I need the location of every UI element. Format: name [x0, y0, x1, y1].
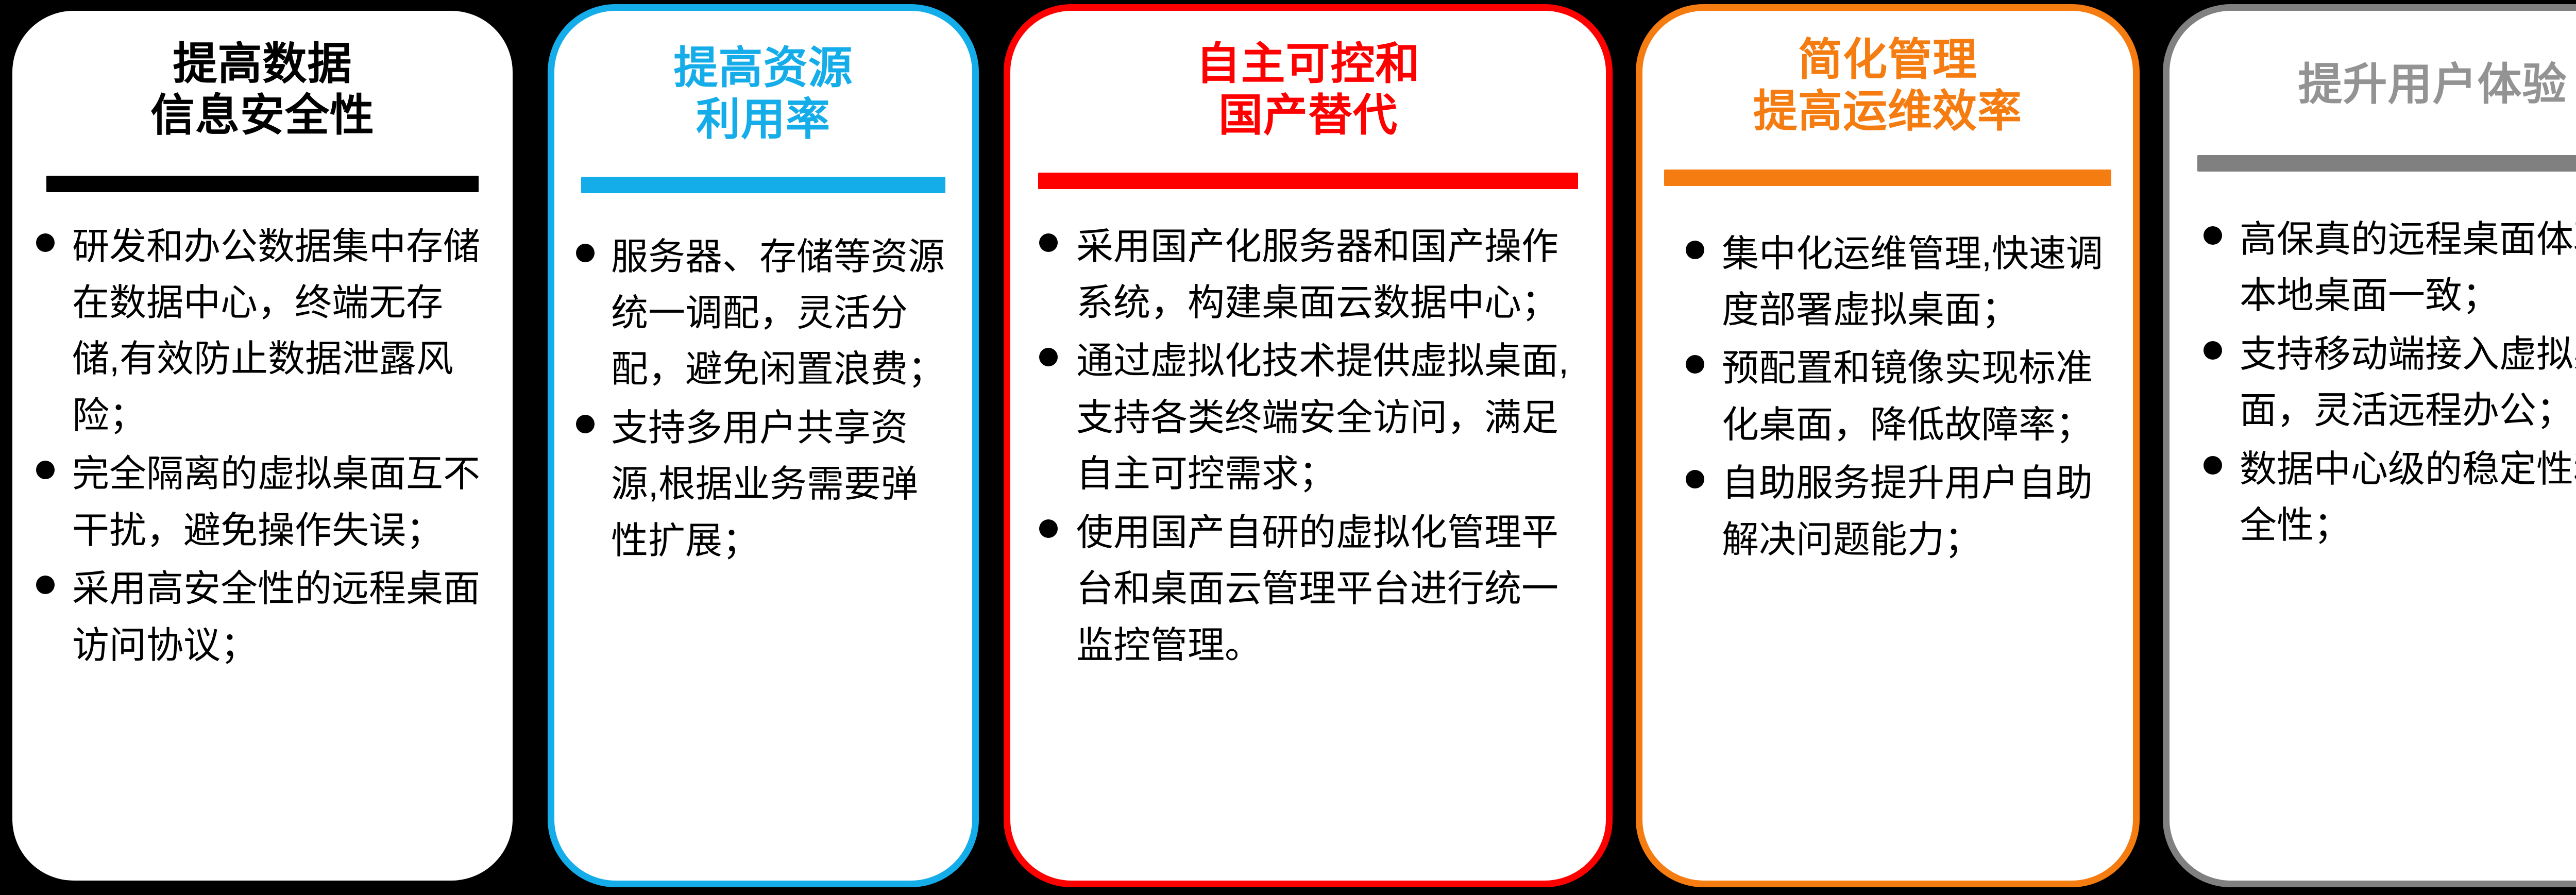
value-card-2[interactable]: 提高资源 利用率服务器、存储等资源统一调配，灵活分配，避免闲置浪费；支持多用户共… [548, 4, 979, 887]
list-item: 采用高安全性的远程桌面访问协议； [36, 561, 486, 674]
list-item: 使用国产自研的虚拟化管理平台和桌面云管理平台进行统一监控管理。 [1039, 505, 1583, 674]
bullet-text: 预配置和镜像实现标准化桌面，降低故障率； [1722, 341, 2110, 453]
title-divider-bar [581, 177, 945, 193]
list-item: 自助服务提升用户自助解决问题能力； [1686, 455, 2110, 568]
bullet-list: 集中化运维管理,快速调度部署虚拟桌面；预配置和镜像实现标准化桌面，降低故障率；自… [1686, 226, 2110, 569]
bullet-text: 数据中心级的稳定性和安全性； [2240, 442, 2576, 554]
card-body: 提升用户体验高保真的远程桌面体验,与本地桌面一致；支持移动端接入虚拟桌面，灵活远… [2170, 11, 2576, 881]
bullet-dot-icon [576, 415, 595, 433]
bullet-list: 服务器、存储等资源统一调配，灵活分配，避免闲置浪费；支持多用户共享资源,根据业务… [576, 229, 947, 570]
list-item: 高保真的远程桌面体验,与本地桌面一致； [2204, 212, 2576, 325]
bullet-dot-icon [2204, 456, 2222, 475]
value-card-4[interactable]: 简化管理 提高运维效率集中化运维管理,快速调度部署虚拟桌面；预配置和镜像实现标准… [1636, 4, 2140, 887]
title-divider-bar [2197, 155, 2576, 172]
value-card-3[interactable]: 自主可控和 国产替代采用国产化服务器和国产操作系统，构建桌面云数据中心；通过虚拟… [1004, 4, 1613, 887]
list-item: 采用国产化服务器和国产操作系统，构建桌面云数据中心； [1039, 219, 1583, 332]
list-item: 支持移动端接入虚拟桌面，灵活远程办公； [2204, 327, 2576, 440]
bullet-dot-icon [36, 576, 55, 594]
list-item: 预配置和镜像实现标准化桌面，降低故障率； [1686, 341, 2110, 453]
list-item: 研发和办公数据集中存储在数据中心，终端无存储,有效防止数据泄露风险； [36, 219, 486, 445]
card-board: 提高数据 信息安全性研发和办公数据集中存储在数据中心，终端无存储,有效防止数据泄… [0, 0, 2576, 895]
bullet-text: 集中化运维管理,快速调度部署虚拟桌面； [1722, 226, 2110, 339]
card-title: 提高数据 信息安全性 [12, 11, 513, 142]
value-card-1[interactable]: 提高数据 信息安全性研发和办公数据集中存储在数据中心，终端无存储,有效防止数据泄… [6, 4, 519, 887]
bullet-dot-icon [1686, 355, 1704, 374]
card-body: 提高资源 利用率服务器、存储等资源统一调配，灵活分配，避免闲置浪费；支持多用户共… [554, 11, 972, 881]
bullet-text: 通过虚拟化技术提供虚拟桌面,支持各类终端安全访问，满足自主可控需求； [1076, 333, 1583, 502]
card-body: 自主可控和 国产替代采用国产化服务器和国产操作系统，构建桌面云数据中心；通过虚拟… [1010, 11, 1606, 881]
title-divider-bar [46, 176, 479, 192]
card-title: 提升用户体验 [2170, 11, 2576, 111]
list-item: 集中化运维管理,快速调度部署虚拟桌面； [1686, 226, 2110, 339]
value-card-5[interactable]: 提升用户体验高保真的远程桌面体验,与本地桌面一致；支持移动端接入虚拟桌面，灵活远… [2163, 4, 2576, 887]
card-title: 简化管理 提高运维效率 [1642, 11, 2133, 138]
bullet-text: 服务器、存储等资源统一调配，灵活分配，避免闲置浪费； [611, 229, 947, 398]
bullet-text: 采用国产化服务器和国产操作系统，构建桌面云数据中心； [1076, 219, 1583, 332]
bullet-dot-icon [36, 233, 55, 252]
list-item: 通过虚拟化技术提供虚拟桌面,支持各类终端安全访问，满足自主可控需求； [1039, 333, 1583, 502]
list-item: 支持多用户共享资源,根据业务需要弹性扩展； [576, 400, 947, 569]
card-title: 自主可控和 国产替代 [1010, 11, 1606, 142]
bullet-list: 采用国产化服务器和国产操作系统，构建桌面云数据中心；通过虚拟化技术提供虚拟桌面,… [1039, 219, 1583, 674]
title-divider-bar [1038, 173, 1578, 189]
bullet-text: 支持移动端接入虚拟桌面，灵活远程办公； [2240, 327, 2576, 440]
bullet-dot-icon [1686, 470, 1704, 488]
bullet-dot-icon [1039, 519, 1058, 538]
bullet-text: 自助服务提升用户自助解决问题能力； [1722, 455, 2110, 568]
card-body: 提高数据 信息安全性研发和办公数据集中存储在数据中心，终端无存储,有效防止数据泄… [12, 11, 513, 881]
bullet-text: 完全隔离的虚拟桌面互不干扰，避免操作失误； [72, 446, 486, 559]
bullet-dot-icon [2204, 341, 2222, 360]
bullet-dot-icon [36, 461, 55, 479]
list-item: 数据中心级的稳定性和安全性； [2204, 442, 2576, 554]
bullet-text: 研发和办公数据集中存储在数据中心，终端无存储,有效防止数据泄露风险； [72, 219, 486, 445]
bullet-text: 支持多用户共享资源,根据业务需要弹性扩展； [611, 400, 947, 569]
bullet-dot-icon [576, 244, 595, 262]
list-item: 服务器、存储等资源统一调配，灵活分配，避免闲置浪费； [576, 229, 947, 398]
bullet-dot-icon [2204, 226, 2222, 245]
bullet-dot-icon [1039, 233, 1058, 252]
bullet-text: 高保真的远程桌面体验,与本地桌面一致； [2240, 212, 2576, 325]
bullet-dot-icon [1039, 348, 1058, 366]
bullet-text: 采用高安全性的远程桌面访问协议； [72, 561, 486, 674]
card-title: 提高资源 利用率 [554, 11, 972, 146]
card-body: 简化管理 提高运维效率集中化运维管理,快速调度部署虚拟桌面；预配置和镜像实现标准… [1642, 11, 2133, 881]
bullet-dot-icon [1686, 241, 1704, 259]
bullet-list: 研发和办公数据集中存储在数据中心，终端无存储,有效防止数据泄露风险；完全隔离的虚… [36, 219, 486, 674]
bullet-list: 高保真的远程桌面体验,与本地桌面一致；支持移动端接入虚拟桌面，灵活远程办公；数据… [2204, 212, 2576, 554]
bullet-text: 使用国产自研的虚拟化管理平台和桌面云管理平台进行统一监控管理。 [1076, 505, 1583, 674]
list-item: 完全隔离的虚拟桌面互不干扰，避免操作失误； [36, 446, 486, 559]
title-divider-bar [1664, 170, 2111, 186]
